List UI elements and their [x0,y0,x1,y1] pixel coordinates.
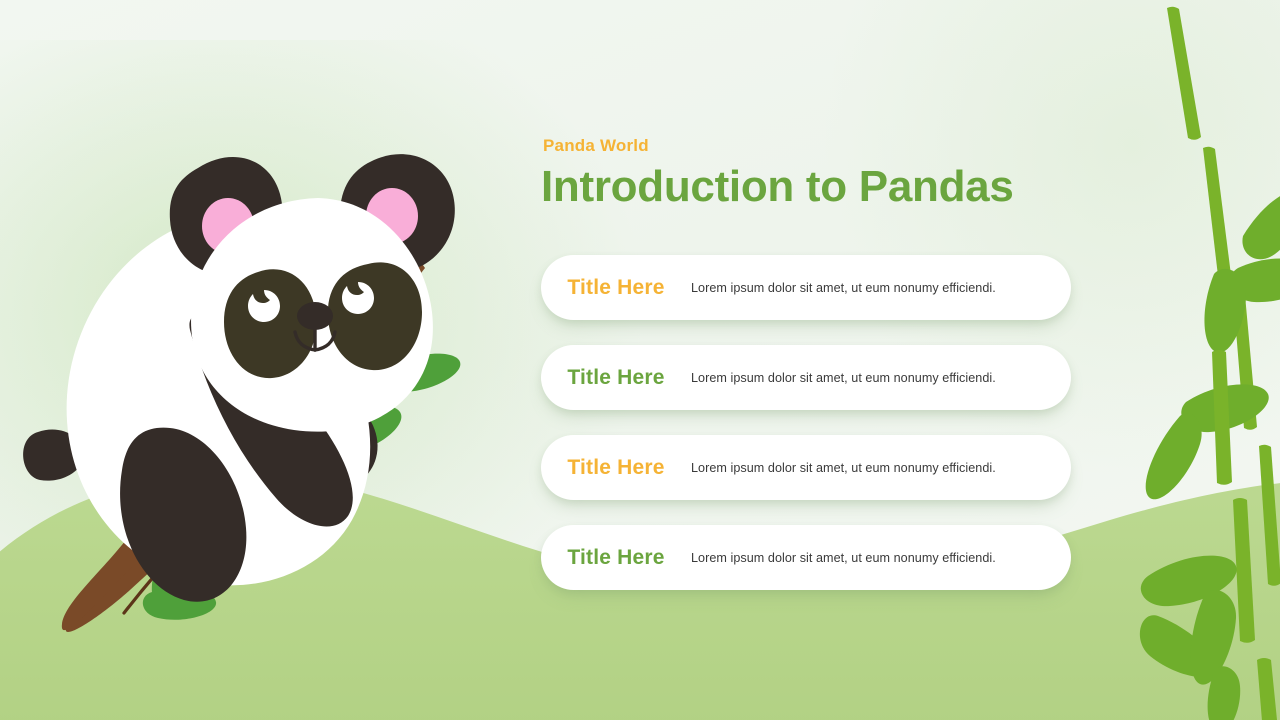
header-block: Panda World Introduction to Pandas [541,136,1101,211]
content-card[interactable]: Title HereLorem ipsum dolor sit amet, ut… [541,255,1071,320]
card-description: Lorem ipsum dolor sit amet, ut eum nonum… [691,461,996,475]
content-card[interactable]: Title HereLorem ipsum dolor sit amet, ut… [541,435,1071,500]
page-title: Introduction to Pandas [541,162,1101,211]
panda-nose [297,302,333,330]
card-title: Title Here [541,366,691,390]
content-card[interactable]: Title HereLorem ipsum dolor sit amet, ut… [541,345,1071,410]
card-description: Lorem ipsum dolor sit amet, ut eum nonum… [691,551,996,565]
content-card[interactable]: Title HereLorem ipsum dolor sit amet, ut… [541,525,1071,590]
card-title: Title Here [541,456,691,480]
card-title: Title Here [541,546,691,570]
slide: Panda World Introduction to Pandas Title… [0,0,1280,720]
eyebrow-label: Panda World [543,136,1101,156]
card-title: Title Here [541,276,691,300]
bamboo-leaf-cluster-upper [1181,190,1280,432]
card-description: Lorem ipsum dolor sit amet, ut eum nonum… [691,281,996,295]
card-description: Lorem ipsum dolor sit amet, ut eum nonum… [691,371,996,385]
content-card-list: Title HereLorem ipsum dolor sit amet, ut… [541,255,1071,615]
